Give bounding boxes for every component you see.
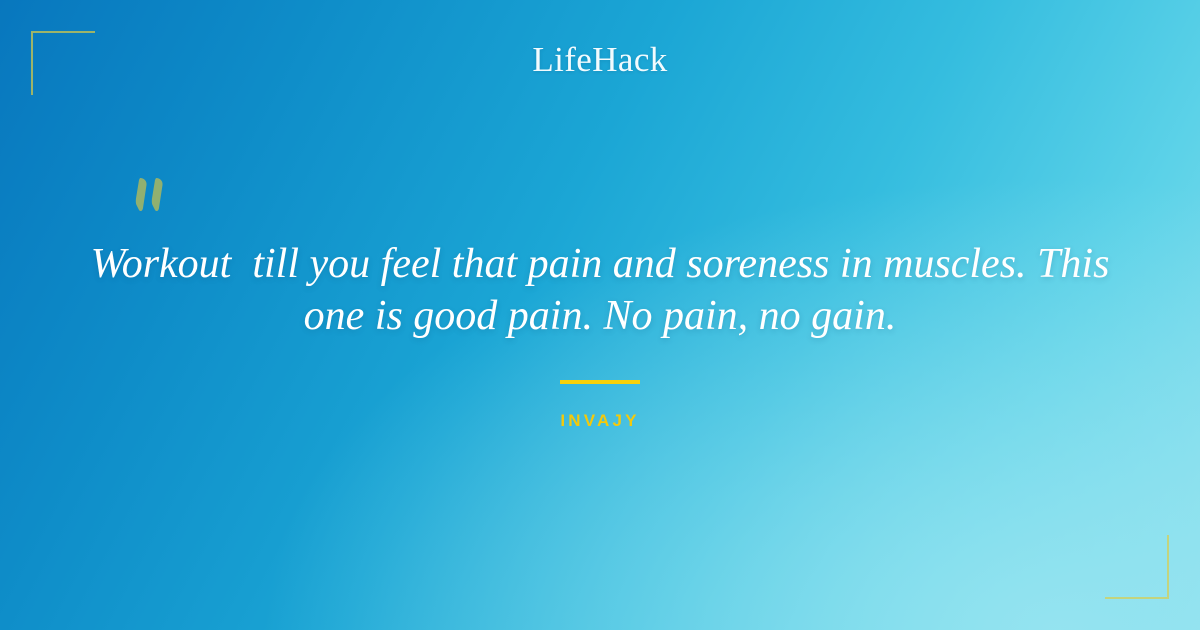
quote-block: Workout till you feel that pain and sore… (60, 238, 1140, 342)
attribution-divider (560, 380, 640, 384)
quote-mark-icon (128, 148, 188, 218)
quote-text: Workout till you feel that pain and sore… (60, 238, 1140, 342)
quote-card: LifeHack Workout till you feel that pain… (0, 0, 1200, 630)
attribution-author: INVAJY (0, 411, 1200, 431)
attribution: INVAJY (0, 380, 1200, 431)
brand-logo: LifeHack (0, 40, 1200, 80)
corner-bracket-bottom-right-icon (1105, 535, 1169, 599)
